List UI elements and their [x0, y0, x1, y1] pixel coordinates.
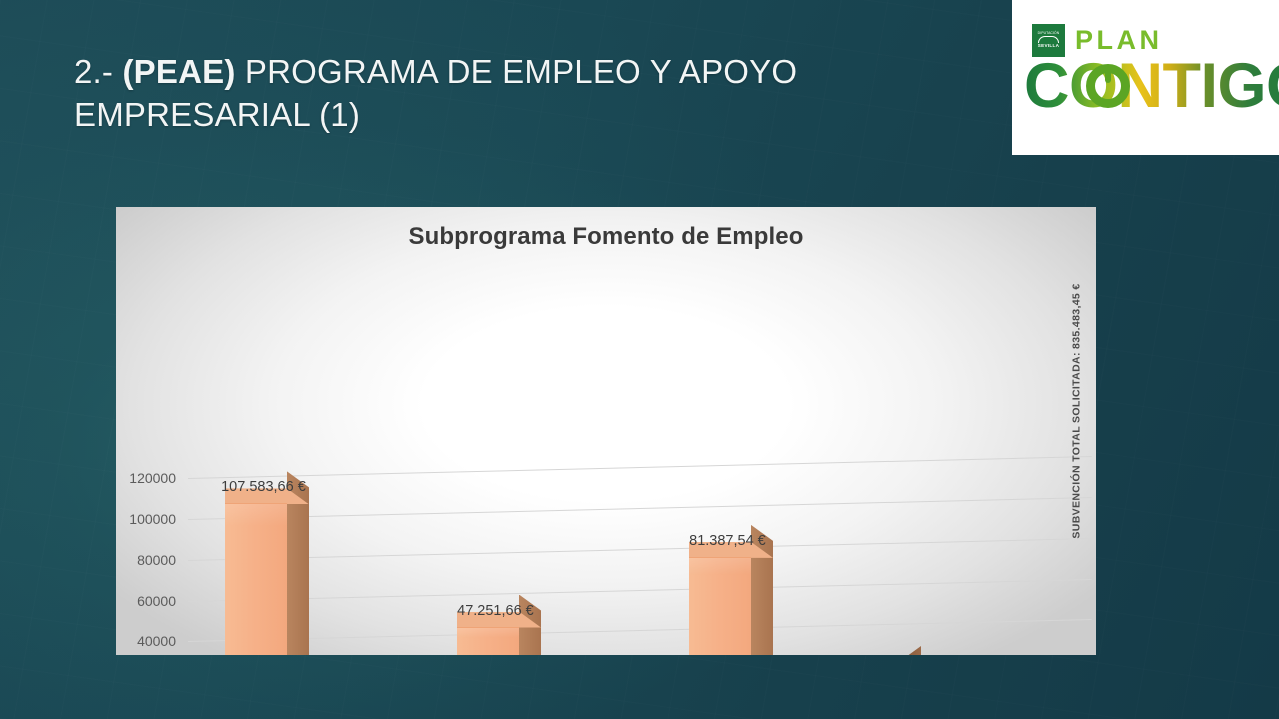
subvencion-total-text: SUBVENCIÓN TOTAL SOLICITADA: 835.483,45 …	[1071, 283, 1083, 538]
bar-side-face	[899, 646, 921, 655]
bar-data-label: 22.040,68 €	[921, 654, 998, 655]
title-prefix: 2.-	[74, 53, 122, 90]
bar-2: 47.251,66 €	[457, 627, 519, 655]
bar-1: 107.583,66 €	[225, 503, 287, 655]
bar-data-label: 81.387,54 €	[689, 533, 766, 549]
chart-panel: Subprograma Fomento de Empleo 107.583,66…	[116, 207, 1096, 655]
bar-3: 81.387,54 €	[689, 557, 751, 655]
badge-arch-icon	[1038, 36, 1059, 43]
slide-background: 2.- (PEAE) PROGRAMA DE EMPLEO Y APOYO EM…	[0, 0, 1279, 719]
badge-bottom-label: SEVILLA	[1038, 44, 1060, 49]
bar-data-label: 47.251,66 €	[457, 603, 534, 619]
logo-word-contigo: CONTIGO	[1024, 50, 1279, 122]
bar-front-face	[689, 557, 751, 655]
plan-contigo-logo: DIPUTACIÓN SEVILLA PLAN CONTIGO	[1012, 0, 1279, 155]
bar-front-face	[457, 627, 519, 655]
power-symbol-icon	[1086, 64, 1130, 108]
bar-data-label: 107.583,66 €	[221, 479, 306, 495]
page-title: 2.- (PEAE) PROGRAMA DE EMPLEO Y APOYO EM…	[74, 50, 934, 136]
bar-series: 107.583,66 €47.251,66 €81.387,54 €22.040…	[116, 207, 1096, 655]
bar-front-face	[225, 503, 287, 655]
logo-inner: DIPUTACIÓN SEVILLA PLAN CONTIGO	[1024, 22, 1279, 142]
badge-top-label: DIPUTACIÓN	[1038, 32, 1060, 35]
subvencion-total-note: SUBVENCIÓN TOTAL SOLICITADA: 835.483,45 …	[1066, 221, 1088, 601]
title-bold: (PEAE)	[122, 53, 235, 90]
